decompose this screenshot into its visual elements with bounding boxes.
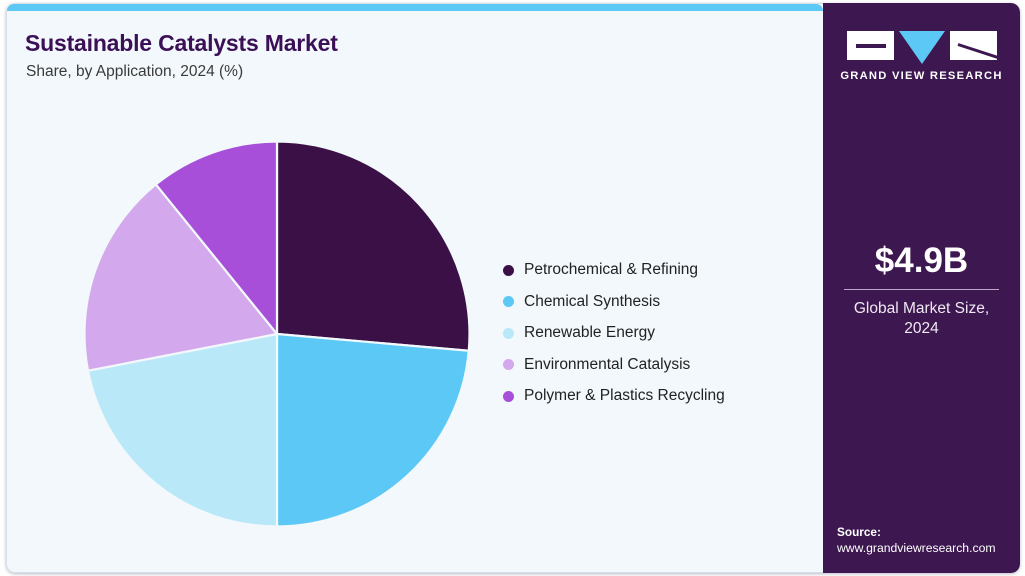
pie-slice[interactable]	[277, 334, 469, 527]
pie-slice-group	[85, 142, 470, 527]
page-title: Sustainable Catalysts Market	[25, 30, 338, 57]
legend-item-label: Renewable Energy	[524, 324, 655, 342]
chart-legend: Petrochemical & RefiningChemical Synthes…	[503, 259, 725, 407]
source-url[interactable]: www.grandviewresearch.com	[837, 541, 1017, 555]
legend-color-dot-icon	[503, 296, 514, 307]
legend-item[interactable]: Chemical Synthesis	[503, 291, 725, 313]
legend-item[interactable]: Environmental Catalysis	[503, 354, 725, 376]
logo-letter-g-icon	[847, 31, 894, 60]
legend-item[interactable]: Petrochemical & Refining	[503, 259, 725, 281]
market-size-stat: $4.9B Global Market Size, 2024	[823, 241, 1020, 340]
pie-chart-svg	[84, 141, 470, 527]
legend-item-label: Chemical Synthesis	[524, 293, 660, 311]
brand-name: GRAND VIEW RESEARCH	[840, 70, 1002, 82]
logo-letter-v-triangle-icon	[899, 31, 945, 64]
source-label: Source:	[837, 525, 1017, 539]
brand-sidebar: GRAND VIEW RESEARCH $4.9B Global Market …	[823, 3, 1020, 573]
logo-marks	[847, 31, 997, 61]
pie-slice[interactable]	[277, 142, 470, 351]
legend-item-label: Environmental Catalysis	[524, 356, 690, 374]
legend-item-label: Polymer & Plastics Recycling	[524, 387, 725, 405]
source-block: Source: www.grandviewresearch.com	[837, 525, 1017, 555]
legend-item-label: Petrochemical & Refining	[524, 261, 698, 279]
legend-color-dot-icon	[503, 391, 514, 402]
top-accent-bar	[7, 4, 823, 11]
logo-letter-r-icon	[950, 31, 997, 60]
pie-chart	[84, 141, 470, 527]
legend-color-dot-icon	[503, 328, 514, 339]
chart-panel: Sustainable Catalysts Market Share, by A…	[6, 3, 823, 573]
legend-color-dot-icon	[503, 265, 514, 276]
stat-value: $4.9B	[837, 241, 1006, 281]
page-subtitle: Share, by Application, 2024 (%)	[26, 63, 243, 81]
legend-color-dot-icon	[503, 359, 514, 370]
legend-item[interactable]: Renewable Energy	[503, 322, 725, 344]
stat-caption: Global Market Size, 2024	[837, 299, 1006, 340]
legend-item[interactable]: Polymer & Plastics Recycling	[503, 385, 725, 407]
stat-divider	[844, 289, 999, 290]
brand-logo: GRAND VIEW RESEARCH	[823, 31, 1020, 82]
chart-card: Sustainable Catalysts Market Share, by A…	[6, 3, 1020, 573]
